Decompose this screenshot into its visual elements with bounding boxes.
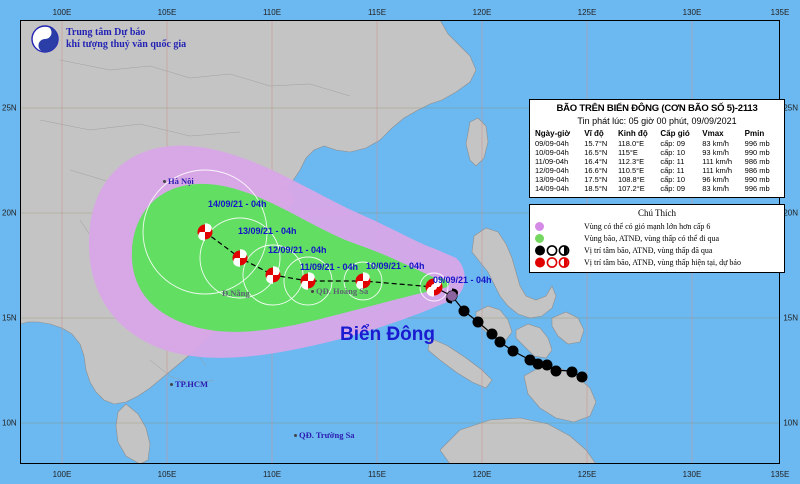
cell-grade: cấp: 10 [659, 148, 701, 157]
cell-datetime: 14/09-04h [534, 184, 583, 193]
lon-tick-bottom-5: 125E [578, 470, 597, 479]
lon-tick-top-5: 125E [578, 8, 597, 17]
cell-lon: 112.3°E [617, 157, 659, 166]
legend-label-0: Vùng có thể có gió mạnh lớn hơn cấp 6 [584, 222, 710, 231]
track-label-1: 13/09/21 - 04h [238, 226, 297, 236]
label-hoangsa-dot [311, 290, 314, 293]
forecast-table-header: Ngày-giờ Vĩ độ Kinh độ Cấp gió Vmax Pmin [534, 129, 780, 139]
legend-label-3: Vị trí tâm bão, ATNĐ, vùng thấp hiện tại… [584, 258, 741, 267]
cell-lat: 16.4°N [583, 157, 617, 166]
label-danang: Đ.Nẵng [222, 288, 250, 298]
cell-vmax: 83 km/h [701, 184, 743, 193]
lon-tick-bottom-6: 130E [683, 470, 702, 479]
lon-tick-bottom-7: 135E [771, 470, 790, 479]
bulletin-panel: BÃO TRÊN BIỂN ĐÔNG (CƠN BÃO SỐ 5)-2113 T… [529, 99, 785, 198]
cell-datetime: 10/09-04h [534, 148, 583, 157]
cell-pmin: 990 mb [744, 175, 780, 184]
lon-tick-top-2: 110E [263, 8, 281, 17]
cell-lat: 15.7°N [583, 139, 617, 148]
legend-label-2: Vị trí tâm bão, ATNĐ, vùng thấp đã qua [584, 246, 712, 255]
table-row: 10/09-04h16.5°N115°Ecấp: 1093 km/h990 mb [534, 148, 780, 157]
cell-pmin: 996 mb [744, 184, 780, 193]
cell-vmax: 111 km/h [701, 166, 743, 175]
table-row: 13/09-04h17.5°N108.8°Ecấp: 1096 km/h990 … [534, 175, 780, 184]
cell-pmin: 990 mb [744, 148, 780, 157]
org-header: Trung tâm Dự báo khí tượng thuỷ văn quốc… [30, 24, 186, 54]
lon-tick-top-3: 115E [368, 8, 386, 17]
cell-lon: 107.2°E [617, 184, 659, 193]
lat-tick-left-3: 10N [2, 419, 17, 428]
cell-lon: 110.5°E [617, 166, 659, 175]
label-hoangsa: QĐ. Hoàng Sa [316, 286, 368, 296]
lon-tick-top-1: 105E [158, 8, 177, 17]
track-label-2: 12/09/21 - 04h [268, 245, 327, 255]
track-label-5: 09/09/21 - 04h [433, 275, 492, 285]
lat-tick-left-0: 25N [2, 104, 17, 113]
bulletin-issued: Tin phát lúc: 05 giờ 00 phút, 09/09/2021 [534, 116, 780, 126]
green-circle-icon [535, 234, 579, 243]
lat-tick-left-1: 20N [2, 209, 17, 218]
lon-tick-top-4: 120E [473, 8, 492, 17]
cell-datetime: 11/09-04h [534, 157, 583, 166]
cell-datetime: 13/09-04h [534, 175, 583, 184]
cell-lat: 18.5°N [583, 184, 617, 193]
org-line-1: Trung tâm Dự báo [66, 27, 186, 39]
lat-tick-right-0: 25N [783, 104, 798, 113]
label-tphcm: TP.HCM [175, 379, 208, 389]
cell-grade: cấp: 11 [659, 166, 701, 175]
legend-item-violet-zone: Vùng có thể có gió mạnh lớn hơn cấp 6 [535, 220, 779, 232]
lon-tick-top-7: 135E [771, 8, 790, 17]
label-hanoi-dot [163, 180, 166, 183]
bulletin-title: BÃO TRÊN BIỂN ĐÔNG (CƠN BÃO SỐ 5)-2113 [534, 103, 780, 114]
past-storm-symbols [446, 289, 588, 383]
label-hanoi: Hà Nội [168, 176, 194, 186]
lon-tick-top-6: 130E [683, 8, 702, 17]
col-datetime: Ngày-giờ [534, 129, 583, 139]
violet-circle-icon [535, 222, 579, 231]
black-storm-symbols-icon [535, 245, 579, 256]
lat-tick-left-2: 15N [2, 314, 17, 323]
legend-item-current-positions: Vị trí tâm bão, ATNĐ, vùng thấp hiện tại… [535, 256, 779, 268]
lon-tick-top-0: 100E [53, 8, 72, 17]
col-vmax: Vmax [701, 129, 743, 139]
cell-lat: 16.6°N [583, 166, 617, 175]
current-position-marker [447, 291, 457, 301]
cell-vmax: 83 km/h [701, 139, 743, 148]
track-label-0: 14/09/21 - 04h [208, 199, 267, 209]
label-truongsa-dot [294, 434, 297, 437]
lon-tick-bottom-4: 120E [473, 470, 492, 479]
label-tphcm-dot [170, 383, 173, 386]
org-line-2: khí tượng thuỷ văn quốc gia [66, 39, 186, 51]
lat-tick-right-3: 10N [783, 419, 798, 428]
cell-lat: 17.5°N [583, 175, 617, 184]
forecast-table: Ngày-giờ Vĩ độ Kinh độ Cấp gió Vmax Pmin… [534, 129, 780, 193]
cell-grade: cấp: 10 [659, 175, 701, 184]
cell-lon: 108.8°E [617, 175, 659, 184]
cell-pmin: 996 mb [744, 139, 780, 148]
track-label-3: 11/09/21 - 04h [300, 262, 358, 272]
legend-item-past-positions: Vị trí tâm bão, ATNĐ, vùng thấp đã qua [535, 244, 779, 256]
cell-grade: cấp: 09 [659, 184, 701, 193]
cell-datetime: 09/09-04h [534, 139, 583, 148]
cell-lon: 115°E [617, 148, 659, 157]
lat-tick-right-1: 20N [783, 209, 798, 218]
legend-item-green-zone: Vùng bão, ATNĐ, vùng thấp có thể đi qua [535, 232, 779, 244]
red-storm-symbols-icon [535, 257, 579, 268]
cell-lon: 118.0°E [617, 139, 659, 148]
col-lon: Kinh độ [617, 129, 659, 139]
lon-tick-bottom-1: 105E [158, 470, 177, 479]
legend-label-1: Vùng bão, ATNĐ, vùng thấp có thể đi qua [584, 234, 719, 243]
cell-vmax: 96 km/h [701, 175, 743, 184]
cell-datetime: 12/09-04h [534, 166, 583, 175]
label-truongsa: QĐ. Trường Sa [299, 430, 355, 440]
legend-title: Chú Thích [535, 208, 779, 218]
past-track-line [434, 287, 580, 376]
lon-tick-bottom-0: 100E [53, 470, 72, 479]
nchmf-logo-icon [30, 24, 60, 54]
track-label-4: 10/09/21 - 04h [366, 261, 425, 271]
forecast-table-body: 09/09-04h15.7°N118.0°Ecấp: 0983 km/h996 … [534, 139, 780, 193]
cell-vmax: 93 km/h [701, 148, 743, 157]
cell-vmax: 111 km/h [701, 157, 743, 166]
table-row: 09/09-04h15.7°N118.0°Ecấp: 0983 km/h996 … [534, 139, 780, 148]
col-grade: Cấp gió [659, 129, 701, 139]
cell-grade: cấp: 11 [659, 157, 701, 166]
table-row: 14/09-04h18.5°N107.2°Ecấp: 0983 km/h996 … [534, 184, 780, 193]
cell-pmin: 986 mb [744, 166, 780, 175]
legend-panel: Chú Thích Vùng có thể có gió mạnh lớn hơ… [529, 204, 785, 273]
cell-lat: 16.5°N [583, 148, 617, 157]
sea-label-bien-dong: Biển Đông [340, 324, 435, 346]
table-row: 12/09-04h16.6°N110.5°Ecấp: 11111 km/h986… [534, 166, 780, 175]
cell-grade: cấp: 09 [659, 139, 701, 148]
lat-tick-right-2: 15N [783, 314, 798, 323]
storm-track-map: Trung tâm Dự báo khí tượng thuỷ văn quốc… [0, 0, 800, 484]
col-pmin: Pmin [744, 129, 780, 139]
cell-pmin: 986 mb [744, 157, 780, 166]
lon-tick-bottom-3: 115E [368, 470, 386, 479]
col-lat: Vĩ độ [583, 129, 617, 139]
table-row: 11/09-04h16.4°N112.3°Ecấp: 11111 km/h986… [534, 157, 780, 166]
lon-tick-bottom-2: 110E [263, 470, 281, 479]
